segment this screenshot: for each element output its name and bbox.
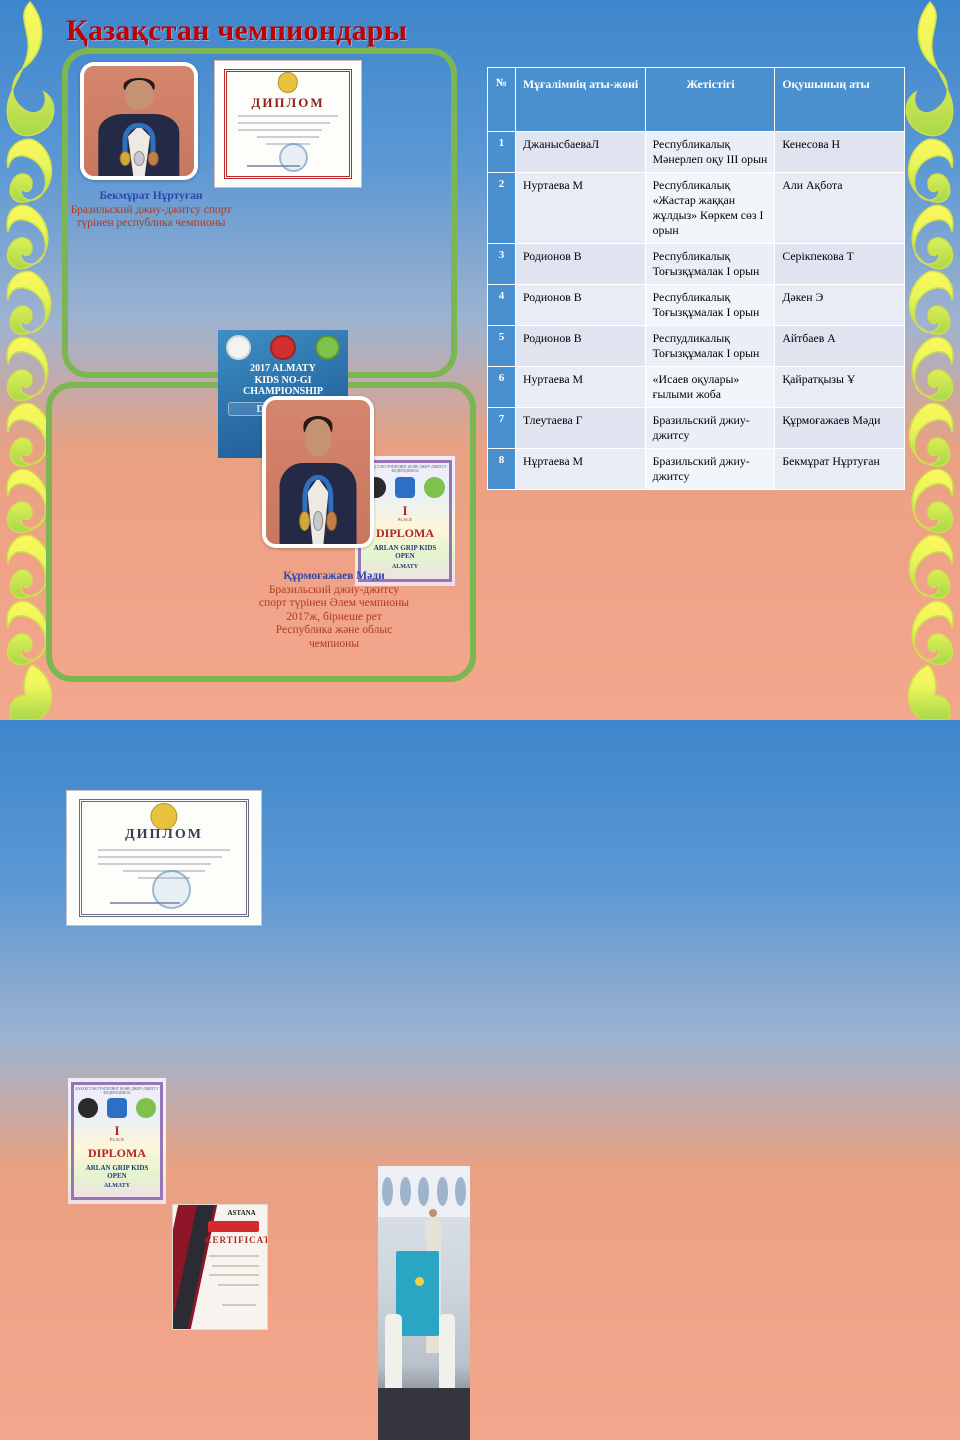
row-achievement: Республикалық Мәнерлеп оқу III орын [645,132,775,173]
row-num: 8 [488,449,516,490]
row-student: Бекмұрат Нұртуған [775,449,905,490]
table-header-row: № Мұғалімнің аты-жөні Жетістігі Оқушының… [488,68,905,132]
table-header-num: № [488,68,516,132]
row-teacher: Тлеутаева Г [516,408,646,449]
row-num: 3 [488,244,516,285]
table-row: 6 Нуртаева М «Исаев оқулары» ғылыми жоба… [488,367,905,408]
caption-top-body: Бразильский джиу-джитсу спорт түрінен ре… [66,204,236,231]
row-num: 7 [488,408,516,449]
row-num: 5 [488,326,516,367]
row-teacher: Родионов В [516,285,646,326]
row-student: Дәкен Э [775,285,905,326]
table-header-student: Оқушының аты [775,68,905,132]
arlan-org1-bottom: ARLAN GRIP KIDS [86,1164,149,1172]
caption-top-name: Бекмұрат Нұртуған [66,190,236,204]
row-student: Құрмоғажаев Мәди [775,408,905,449]
row-achievement: Бразильский джиу-джитсу [645,449,775,490]
table-row: 5 Родионов В Респудликалық Тоғызқұмалак … [488,326,905,367]
table-header-achievement: Жетістігі [645,68,775,132]
row-num: 1 [488,132,516,173]
diploma-arlan-grip-bottom: ҚАЗАҚСТАН ГРЭППЛИНГ ЖӘНЕ ДЖИУ-ДЖИТСУ ФЕД… [68,1078,166,1204]
nogi-line1: 2017 ALMATY [250,363,316,374]
arlan-city-bottom: ALMATY [68,1183,166,1189]
row-achievement: «Исаев оқулары» ғылыми жоба [645,367,775,408]
arlan-diploma-bottom: DIPLOMA [68,1146,166,1161]
row-student: Кенесова Н [775,132,905,173]
photo-podium-flag [378,1166,470,1440]
arlan-city-top: ALMATY [355,564,455,570]
row-achievement: Респудликалық Тоғызқұмалак I орын [645,326,775,367]
row-achievement: Республикалық Тоғызқұмалак I орын [645,285,775,326]
photo-kurmogazhaev [262,396,374,548]
row-student: Қайратқызы Ұ [775,367,905,408]
certificate-astana: ASTANA CERTIFICATE [172,1204,268,1330]
diploma-title-ru-2: ДИПЛОМ [67,827,261,843]
table-row: 3 Родионов В Республикалық Тоғызқұмалак … [488,244,905,285]
arlan-org2-bottom: OPEN [107,1172,126,1180]
row-achievement: Республикалық «Жастар жаққан жұлдыз» Көр… [645,173,775,244]
table-header-teacher: Мұғалімнің аты-жөні [516,68,646,132]
astana-certificate-title: CERTIFICATE [205,1235,261,1245]
row-teacher: Нұртаева М [516,449,646,490]
arlan-place-sub-bottom: PLACE [68,1137,166,1142]
row-num: 4 [488,285,516,326]
caption-bottom: Құрмоғажаев Мәди Бразильский джиу-джитсу… [258,570,410,651]
row-achievement: Бразильский джиу-джитсу [645,408,775,449]
table-row: 2 Нуртаева М Республикалық «Жастар жаққа… [488,173,905,244]
row-teacher: Родионов В [516,244,646,285]
table-row: 7 Тлеутаева Г Бразильский джиу-джитсу Құ… [488,408,905,449]
row-num: 6 [488,367,516,408]
arlan-header-bottom: ҚАЗАҚСТАН ГРЭППЛИНГ ЖӘНЕ ДЖИУ-ДЖИТСУ ФЕД… [68,1087,166,1095]
nogi-line2: KIDS NO-GI [255,375,312,386]
diploma-title-ru: ДИПЛОМ [215,95,361,111]
caption-top: Бекмұрат Нұртуған Бразильский джиу-джитс… [66,190,236,231]
row-student: Али Ақбота [775,173,905,244]
table-body: 1 ДжанысбаеваЛ Республикалық Мәнерлеп оқ… [488,132,905,490]
table-row: 8 Нұртаева М Бразильский джиу-джитсу Бек… [488,449,905,490]
row-teacher: Нуртаева М [516,367,646,408]
row-student: Айтбаев А [775,326,905,367]
page-title: Қазақстан чемпиондары [66,14,407,48]
caption-bottom-name: Құрмоғажаев Мәди [258,570,410,584]
arlan-org2-top: OPEN [395,552,414,560]
row-num: 2 [488,173,516,244]
row-student: Серікпекова Т [775,244,905,285]
table-row: 1 ДжанысбаеваЛ Республикалық Мәнерлеп оқ… [488,132,905,173]
diploma-republic-grey: ДИПЛОМ [66,790,262,926]
astana-logo-text: ASTANA [227,1209,255,1217]
row-teacher: ДжанысбаеваЛ [516,132,646,173]
row-teacher: Нуртаева М [516,173,646,244]
diploma-republic-red: ДИПЛОМ [214,60,362,188]
achievements-table: № Мұғалімнің аты-жөні Жетістігі Оқушының… [487,67,905,490]
row-achievement: Республикалық Тоғызқұмалак I орын [645,244,775,285]
photo-bekmurat [80,62,198,180]
caption-bottom-body: Бразильский джиу-джитсу спорт түрінен Әл… [258,584,410,652]
table-row: 4 Родионов В Республикалық Тоғызқұмалак … [488,285,905,326]
achievements-table-wrap: № Мұғалімнің аты-жөні Жетістігі Оқушының… [487,67,905,490]
arlan-org1-top: ARLAN GRIP KIDS [374,544,437,552]
row-teacher: Родионов В [516,326,646,367]
